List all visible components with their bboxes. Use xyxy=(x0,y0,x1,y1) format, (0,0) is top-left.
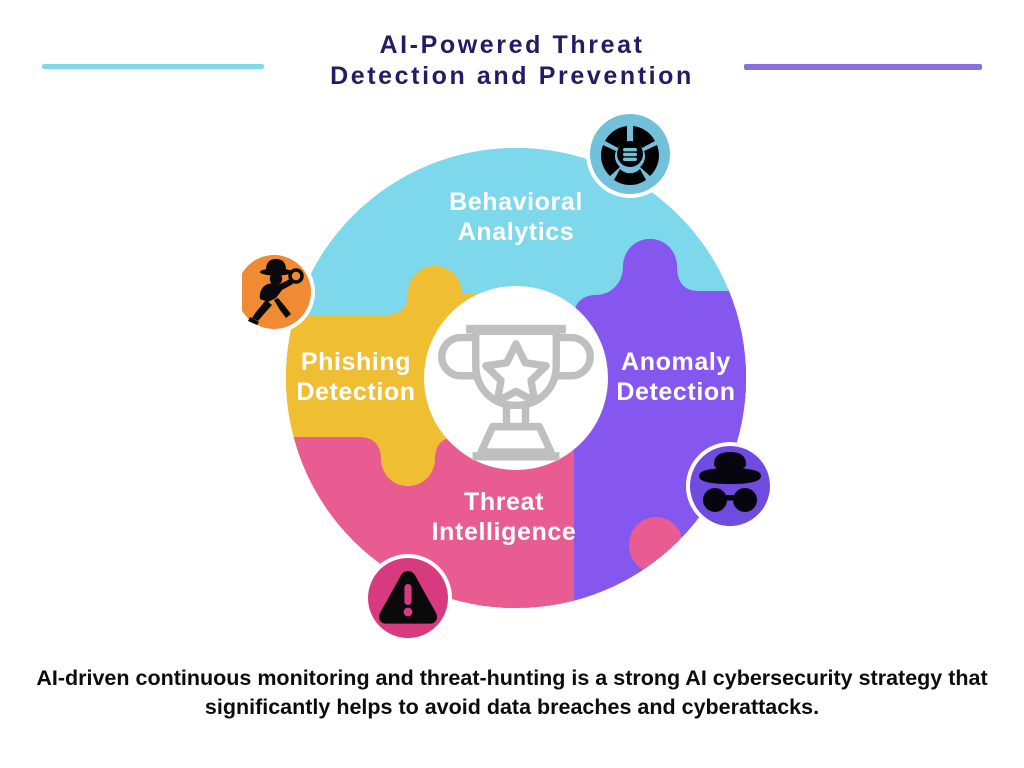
center-circle xyxy=(424,286,608,470)
label-anomaly-detection-line-2: Detection xyxy=(616,378,735,406)
header: AI-Powered Threat Detection and Preventi… xyxy=(0,30,1024,110)
badge-anomaly-detection[interactable] xyxy=(686,442,774,530)
page-title-line-1: AI-Powered Threat xyxy=(262,30,762,61)
title-rule-right xyxy=(744,64,982,70)
caption-line-1: AI-driven continuous monitoring and thre… xyxy=(36,666,852,690)
page-title: AI-Powered Threat Detection and Preventi… xyxy=(262,30,762,92)
page-title-line-2: Detection and Prevention xyxy=(262,61,762,92)
label-threat-intelligence-line-2: Intelligence xyxy=(432,518,577,546)
title-rule-left xyxy=(42,64,264,69)
label-behavioral-analytics-line-1: Behavioral xyxy=(449,188,583,216)
caption: AI-driven continuous monitoring and thre… xyxy=(36,664,988,722)
label-phishing-detection-line-2: Detection xyxy=(296,378,415,406)
label-behavioral-analytics-line-2: Analytics xyxy=(458,218,575,246)
label-threat-intelligence-line-1: Threat xyxy=(464,488,544,516)
label-anomaly-detection-line-1: Anomaly xyxy=(621,348,731,376)
label-phishing-detection-line-1: Phishing xyxy=(301,348,411,376)
badge-threat-intelligence[interactable] xyxy=(364,554,452,642)
puzzle-circle-diagram: Behavioral Analytics Anomaly Detection T… xyxy=(242,104,790,652)
badge-behavioral-analytics[interactable] xyxy=(586,110,674,198)
sector-right-purple-bottom xyxy=(574,545,790,652)
